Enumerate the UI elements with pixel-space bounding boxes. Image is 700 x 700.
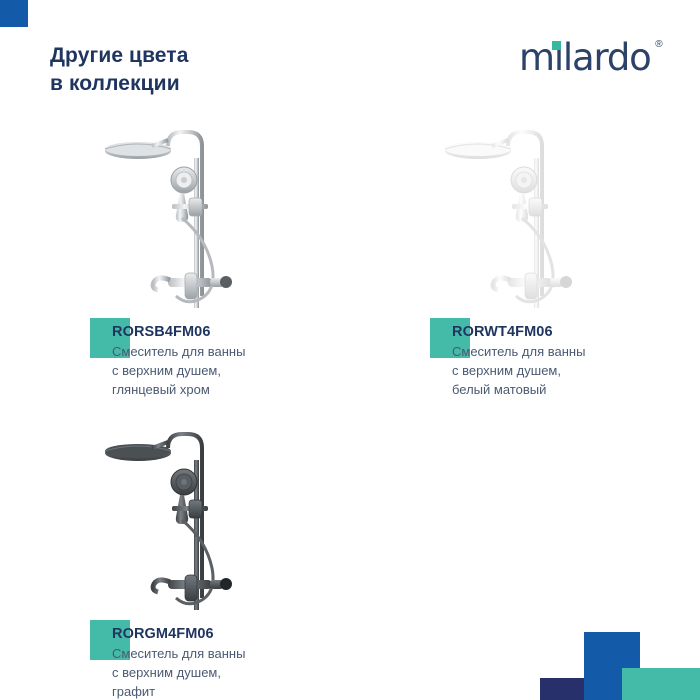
product-label-graphite: RORGM4FM06 Смеситель для ванны с верхним… — [90, 620, 330, 700]
corner-rect-bottom-teal — [622, 668, 700, 700]
product-caption-chrome: RORSB4FM06 Смеситель для ванны с верхним… — [112, 324, 322, 400]
product-code: RORGM4FM06 — [112, 626, 322, 643]
product-card-white[interactable]: RORWT4FM06 Смеситель для ванны с верхним… — [430, 118, 670, 410]
product-caption-white: RORWT4FM06 Смеситель для ванны с верхним… — [452, 324, 662, 400]
product-description: Смеситель для ванны с верхним душем, гля… — [112, 343, 322, 400]
product-label-white: RORWT4FM06 Смеситель для ванны с верхним… — [430, 318, 670, 410]
corner-square-top-left — [0, 0, 28, 27]
page-title: Другие цвета в коллекции — [50, 42, 188, 97]
product-code: RORSB4FM06 — [112, 324, 322, 341]
brand-logo-text: milardo — [519, 38, 651, 78]
product-card-graphite[interactable]: RORGM4FM06 Смеситель для ванны с верхним… — [90, 420, 330, 700]
catalog-page: Другие цвета в коллекции milardo ® — [0, 0, 700, 700]
product-image-graphite — [90, 420, 320, 620]
product-code: RORWT4FM06 — [452, 324, 662, 341]
brand-logo: milardo ® — [519, 38, 651, 78]
shower-column-white-icon — [430, 118, 660, 318]
logo-accent-dot — [552, 41, 561, 50]
product-image-chrome — [90, 118, 320, 318]
registered-mark-icon: ® — [655, 39, 662, 50]
product-card-chrome[interactable]: RORSB4FM06 Смеситель для ванны с верхним… — [90, 118, 330, 410]
shower-column-chrome-icon — [90, 118, 320, 318]
product-description: Смеситель для ванны с верхним душем, бел… — [452, 343, 662, 400]
product-caption-graphite: RORGM4FM06 Смеситель для ванны с верхним… — [112, 626, 322, 700]
product-label-chrome: RORSB4FM06 Смеситель для ванны с верхним… — [90, 318, 330, 410]
product-image-white — [430, 118, 660, 318]
product-description: Смеситель для ванны с верхним душем, гра… — [112, 645, 322, 700]
shower-column-graphite-icon — [90, 420, 320, 620]
